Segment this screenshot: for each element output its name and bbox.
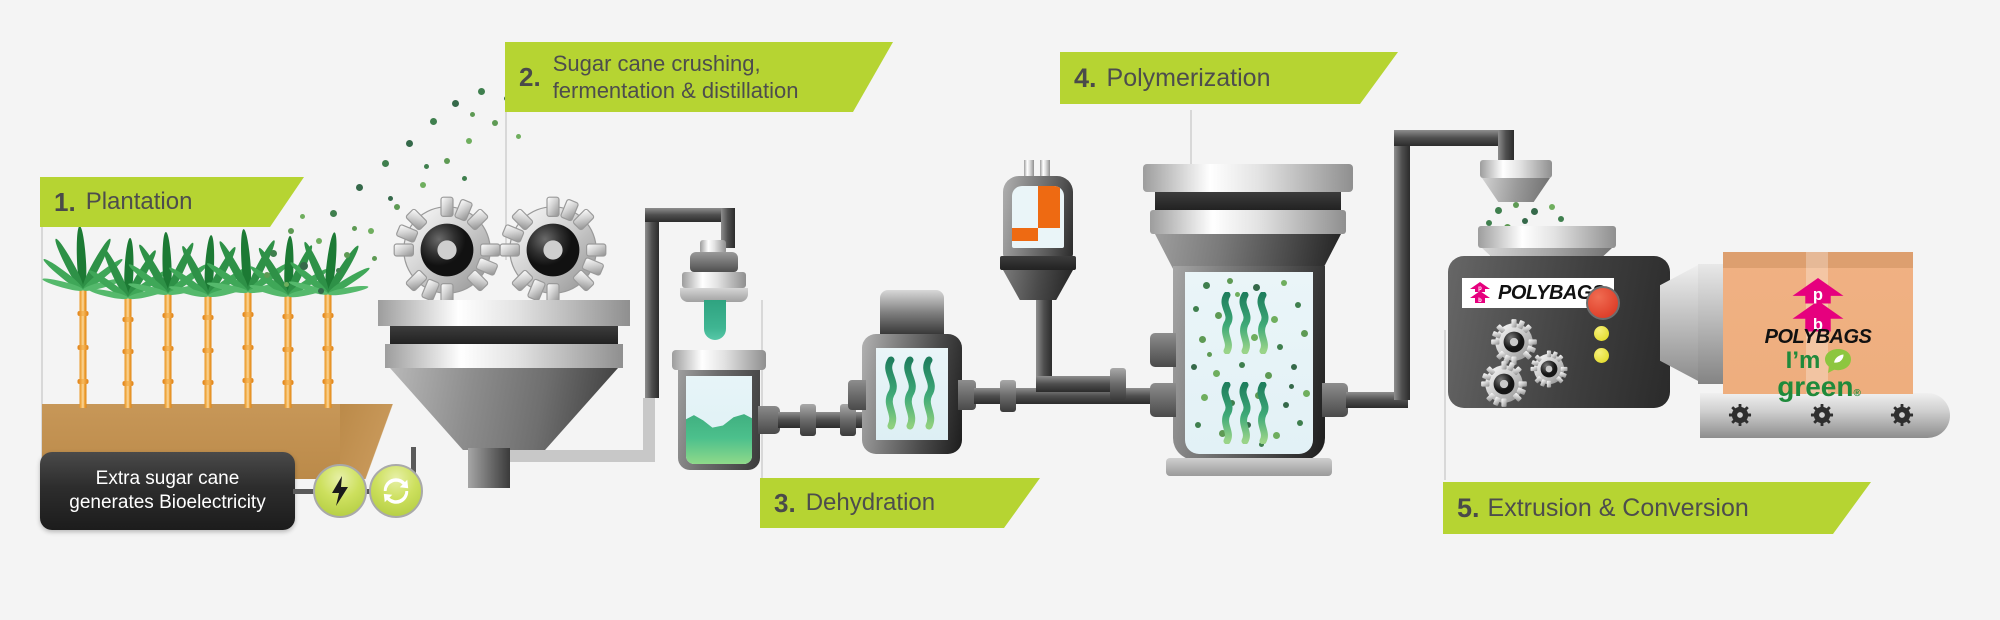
tank-side-port — [758, 406, 780, 434]
extruder-indicator-yellow-1[interactable] — [1594, 326, 1609, 341]
step-1-label: Plantation — [86, 188, 193, 216]
crusher-outlet — [468, 448, 510, 488]
instrument-bar-short — [1012, 228, 1038, 241]
instrument-taper — [1003, 270, 1073, 300]
crusher-mid-plate — [385, 344, 623, 368]
callout-line-1: Extra sugar cane — [69, 467, 265, 491]
extruder-upper-cone — [1482, 178, 1550, 202]
step-banner-3[interactable]: 3. Dehydration — [760, 478, 1004, 528]
instrument-bar-tall — [1038, 186, 1060, 228]
crusher-gear-right-icon — [493, 190, 613, 310]
svg-text:p: p — [1478, 286, 1482, 292]
conveyor-gear-1-icon — [1728, 403, 1752, 427]
recycle-button[interactable] — [369, 464, 423, 518]
banner-stem-3 — [761, 300, 763, 480]
im-green-tagline: I’m green ® — [1740, 348, 1898, 401]
reactor-shoulder — [1155, 234, 1341, 270]
step-3-label: Dehydration — [806, 489, 935, 517]
pipe-extruder-top — [1394, 130, 1514, 146]
bioelectricity-bolt-button[interactable] — [313, 464, 367, 518]
step-banner-1[interactable]: 1. Plantation — [40, 177, 270, 227]
dropper-collar — [682, 272, 746, 288]
pipe-crusher-bottom-riser — [643, 398, 655, 458]
extruder-indicator-yellow-2[interactable] — [1594, 348, 1609, 363]
reactor-port-upper-left — [1150, 333, 1176, 367]
crusher-top-plate — [378, 300, 630, 326]
extruder-gear-3-icon — [1478, 358, 1530, 410]
step-1-number: 1. — [54, 187, 76, 218]
step-2-label-line2: fermentation & distillation — [553, 77, 799, 105]
step-2-number: 2. — [519, 62, 541, 93]
instrument-stub-right — [1040, 160, 1050, 176]
step-banner-4-tail — [1360, 52, 1398, 104]
extruder-upper-collar — [1480, 160, 1552, 178]
step-5-number: 5. — [1457, 493, 1480, 524]
extruder-hopper-plate — [1478, 226, 1616, 248]
reactor-mid-plate — [1150, 210, 1346, 234]
polybags-house-logo-icon: p b — [1470, 282, 1490, 304]
step-4-number: 4. — [1074, 63, 1097, 94]
dropper-nozzle — [704, 300, 726, 340]
reactor-top-plate — [1143, 164, 1353, 192]
reactor-glass — [1185, 272, 1313, 454]
banner-stem-4 — [1190, 110, 1192, 165]
step-banner-4[interactable]: 4. Polymerization — [1060, 52, 1360, 104]
crusher-gear-left-icon — [387, 190, 507, 310]
svg-text:p: p — [1813, 285, 1823, 304]
product-box-brand-label: POLYBAGS — [1723, 326, 1913, 349]
step-banner-1-tail — [270, 177, 304, 227]
step-2-label: Sugar cane crushing, fermentation & dist… — [553, 50, 799, 105]
reactor-wave-bottom-icon — [1219, 382, 1275, 444]
im-green-line2: green — [1777, 374, 1853, 401]
banner-stem-5 — [1444, 330, 1446, 480]
pipe-flange-d — [1110, 368, 1126, 400]
pipe-extruder-riser — [1394, 130, 1410, 400]
instrument-stub-left — [1024, 160, 1034, 176]
bioelectricity-callout: Extra sugar cane generates Bioelectricit… — [40, 452, 295, 530]
instrument-screen — [1012, 186, 1064, 248]
step-5-label: Extrusion & Conversion — [1488, 494, 1749, 523]
instrument-base-band — [1000, 256, 1076, 270]
crusher-dark-band — [390, 326, 618, 344]
tank-lid — [672, 350, 766, 370]
conveyor-gear-2-icon — [1810, 403, 1834, 427]
step-banner-2-tail — [853, 42, 893, 112]
dropper-head — [690, 252, 738, 272]
dehydration-port-left — [848, 380, 866, 410]
reactor-port-lower-left — [1150, 383, 1176, 417]
pipe-flange-a — [800, 404, 816, 436]
step-banner-2[interactable]: 2. Sugar cane crushing, fermentation & d… — [505, 42, 853, 112]
dehydration-vapor-icon — [881, 356, 943, 430]
im-green-trademark: ® — [1853, 389, 1860, 399]
reactor-port-right — [1322, 383, 1348, 417]
extruder-nozzle-tip — [1698, 264, 1724, 384]
reactor-wave-top-icon — [1219, 292, 1275, 354]
pipe-crusher-up — [645, 208, 659, 398]
lightning-bolt-icon — [328, 476, 352, 506]
pipe-instrument-elbow — [1036, 376, 1116, 392]
extruder-gear-2-icon — [1528, 348, 1570, 390]
step-2-label-line1: Sugar cane crushing, — [553, 50, 799, 78]
recycle-icon — [381, 476, 411, 506]
im-green-line1: I’m — [1786, 350, 1821, 373]
step-banner-3-tail — [1004, 478, 1040, 528]
reactor-dark-band — [1155, 192, 1341, 210]
reactor-base — [1166, 458, 1332, 476]
crusher-funnel — [390, 368, 618, 450]
pipe-flange-c — [1000, 380, 1016, 412]
pipe-crusher-bottom — [510, 450, 655, 462]
extruder-indicator-red[interactable] — [1586, 286, 1620, 320]
callout-line-2: generates Bioelectricity — [69, 491, 265, 515]
step-3-number: 3. — [774, 488, 796, 519]
cane-plant — [60, 218, 106, 408]
callout-wire — [293, 489, 315, 494]
svg-text:b: b — [1478, 298, 1482, 304]
step-banner-5[interactable]: 5. Extrusion & Conversion — [1443, 482, 1833, 534]
infographic-canvas: 1. Plantation 2. Sugar cane crushing, fe… — [0, 0, 2000, 620]
cane-plant — [305, 222, 351, 408]
step-4-label: Polymerization — [1107, 64, 1271, 93]
conveyor-gear-3-icon — [1890, 403, 1914, 427]
step-banner-5-tail — [1833, 482, 1871, 534]
